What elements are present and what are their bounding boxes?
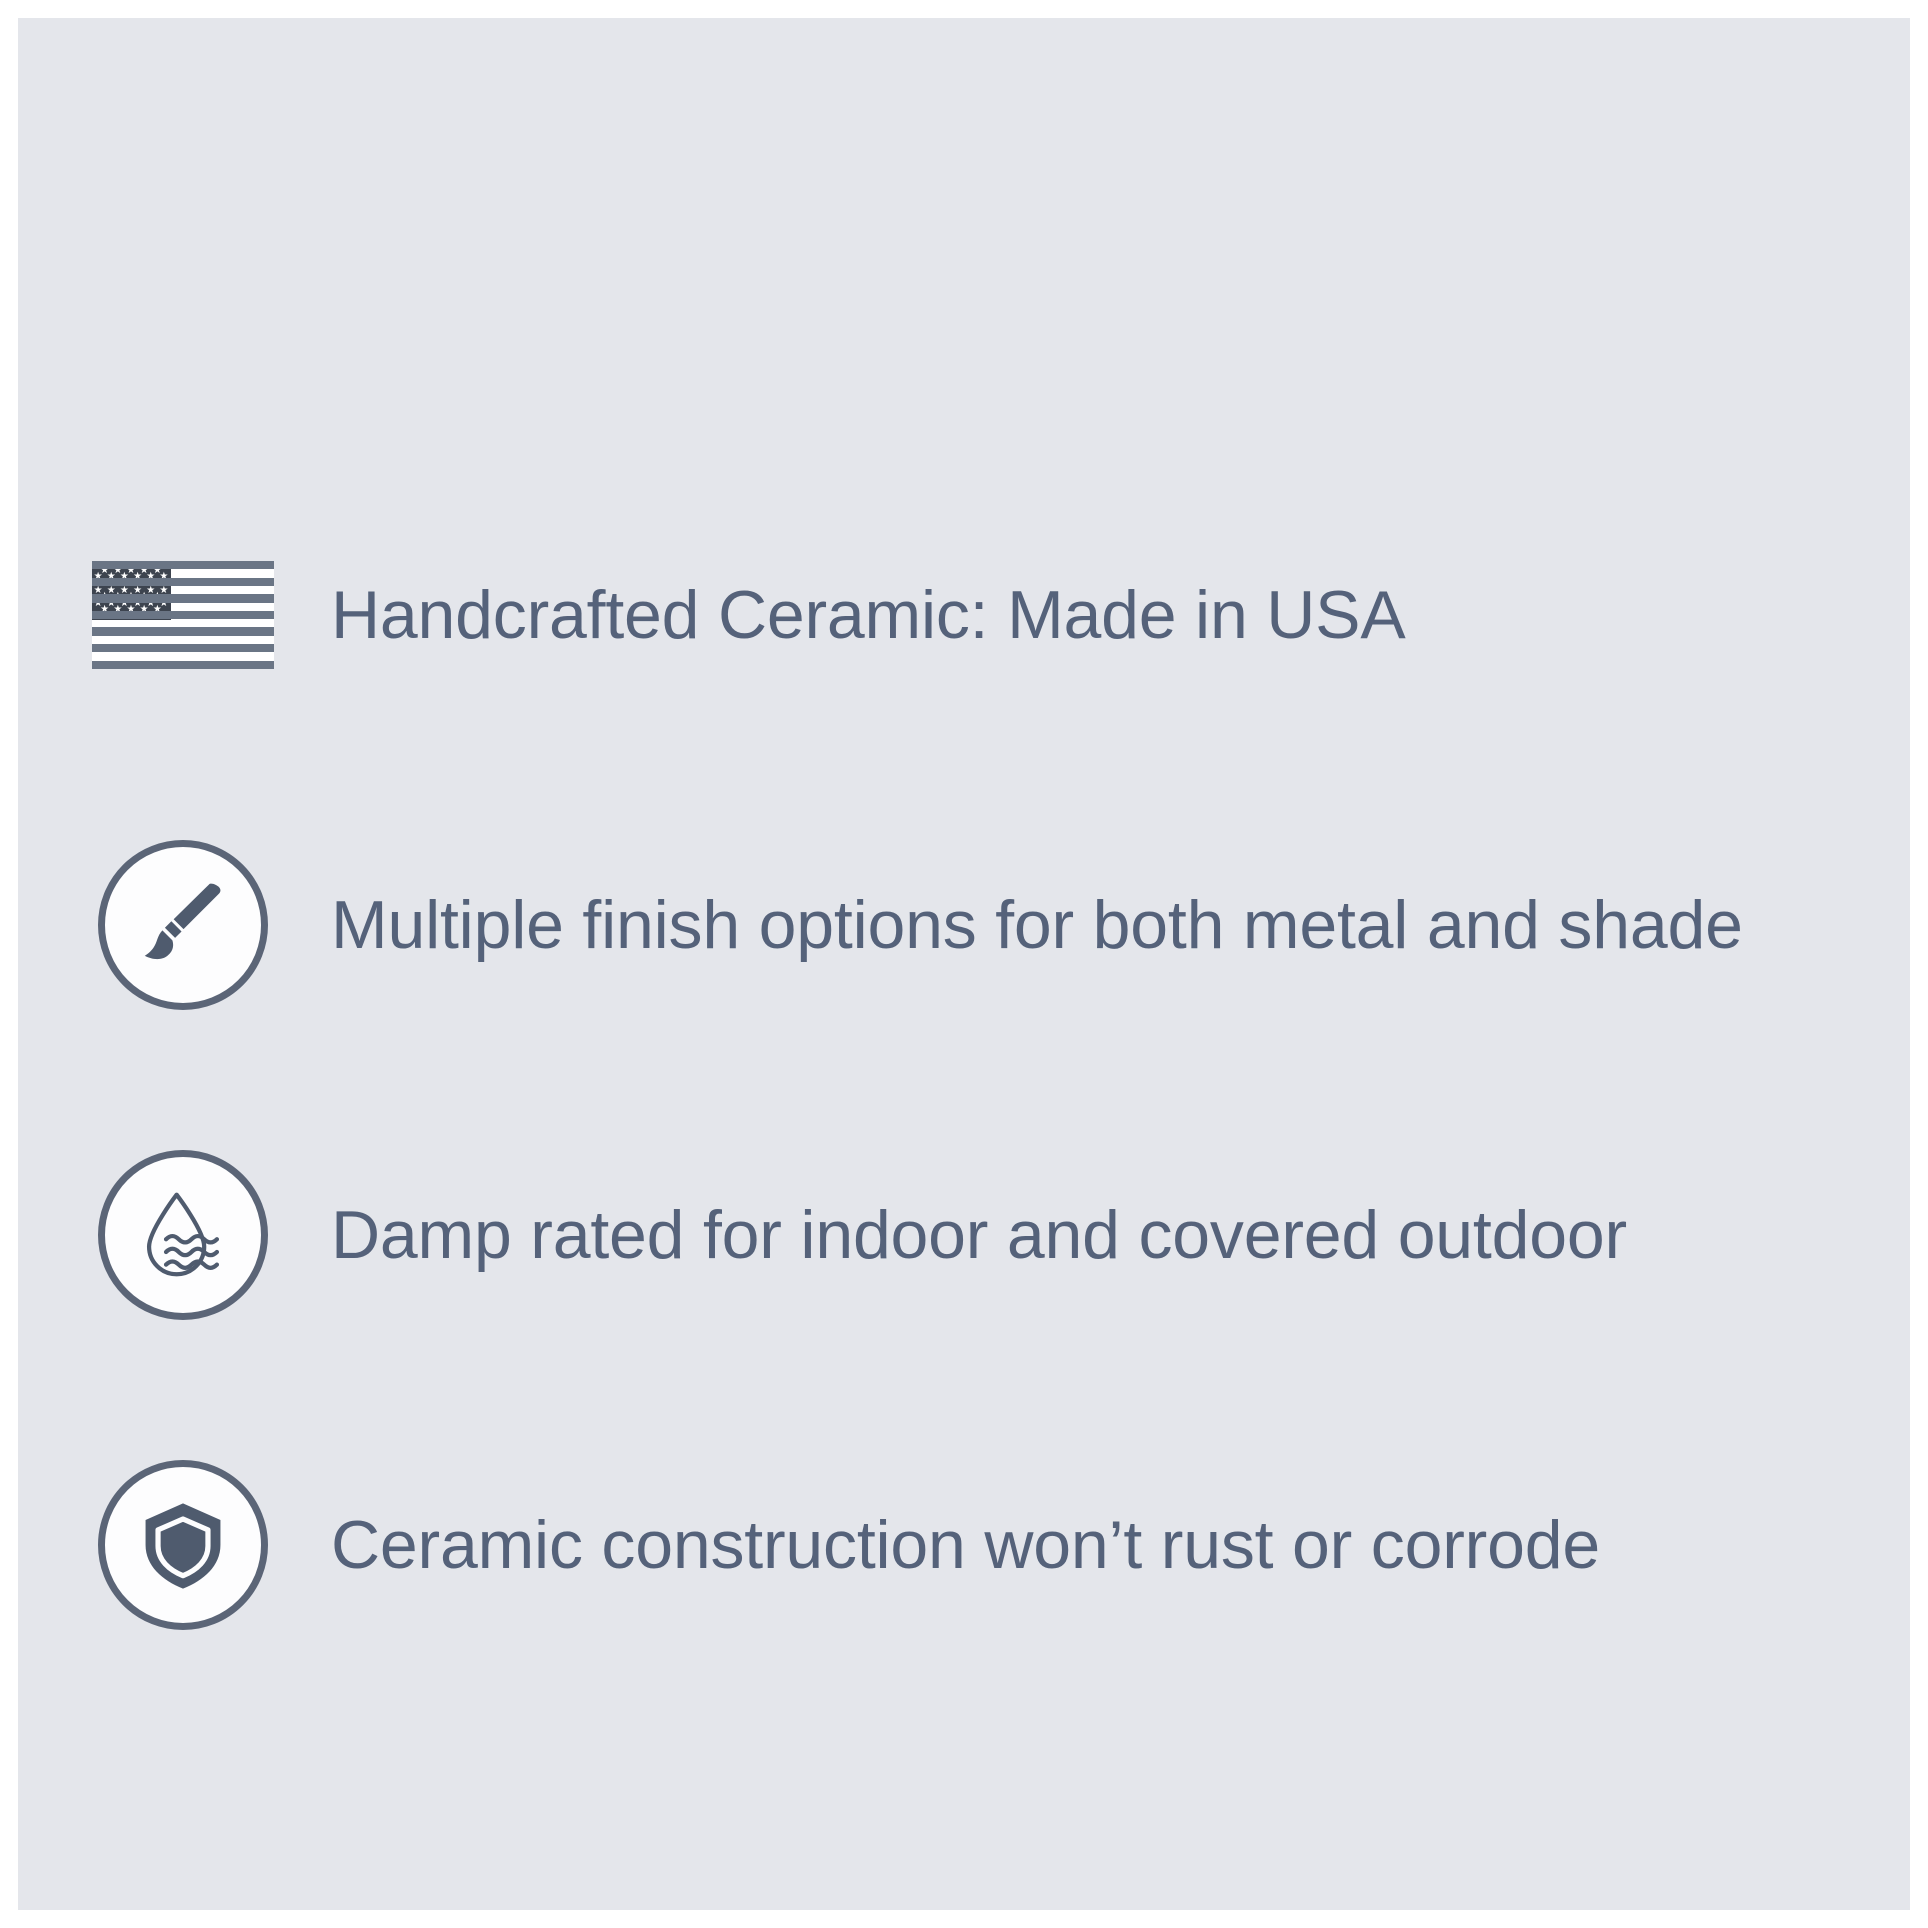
icon-slot — [85, 1145, 281, 1325]
product-feature-graphic: ★★★★★★★★★★★★★★★★★★★★★★★★★★★★★★★★★★★★★★★★… — [0, 0, 1928, 1928]
feature-row-damp-rated: Damp rated for indoor and covered outdoo… — [85, 1135, 1885, 1335]
feature-text: Multiple finish options for both metal a… — [281, 887, 1743, 963]
feature-panel: ★★★★★★★★★★★★★★★★★★★★★★★★★★★★★★★★★★★★★★★★… — [18, 18, 1910, 1910]
water-drop-icon — [98, 1150, 268, 1320]
water-drop-glyph — [130, 1182, 236, 1288]
flag-stripe — [92, 594, 274, 602]
feature-text: Damp rated for indoor and covered outdoo… — [281, 1197, 1627, 1273]
flag-stripe — [92, 561, 274, 569]
feature-text: Ceramic construction won’t rust or corro… — [281, 1507, 1600, 1583]
paintbrush-glyph — [131, 873, 235, 977]
usa-flag-icon: ★★★★★★★★★★★★★★★★★★★★★★★★★★★★★★★★★★★★★★★★… — [92, 561, 274, 669]
flag-stripe — [92, 611, 274, 619]
flag-stripe — [92, 661, 274, 669]
feature-row-wont-corrode: Ceramic construction won’t rust or corro… — [85, 1445, 1885, 1645]
icon-slot: ★★★★★★★★★★★★★★★★★★★★★★★★★★★★★★★★★★★★★★★★… — [85, 525, 281, 705]
flag-stripe — [92, 644, 274, 652]
icon-slot — [85, 835, 281, 1015]
feature-row-made-in-usa: ★★★★★★★★★★★★★★★★★★★★★★★★★★★★★★★★★★★★★★★★… — [85, 515, 1885, 715]
shield-icon — [98, 1460, 268, 1630]
paintbrush-icon — [98, 840, 268, 1010]
flag-stripe — [92, 627, 274, 635]
feature-row-finish-options: Multiple finish options for both metal a… — [85, 825, 1885, 1025]
icon-slot — [85, 1455, 281, 1635]
flag-stripe — [92, 578, 274, 586]
feature-list: ★★★★★★★★★★★★★★★★★★★★★★★★★★★★★★★★★★★★★★★★… — [85, 515, 1885, 1645]
shield-glyph — [131, 1493, 235, 1597]
feature-text: Handcrafted Ceramic: Made in USA — [281, 577, 1406, 653]
